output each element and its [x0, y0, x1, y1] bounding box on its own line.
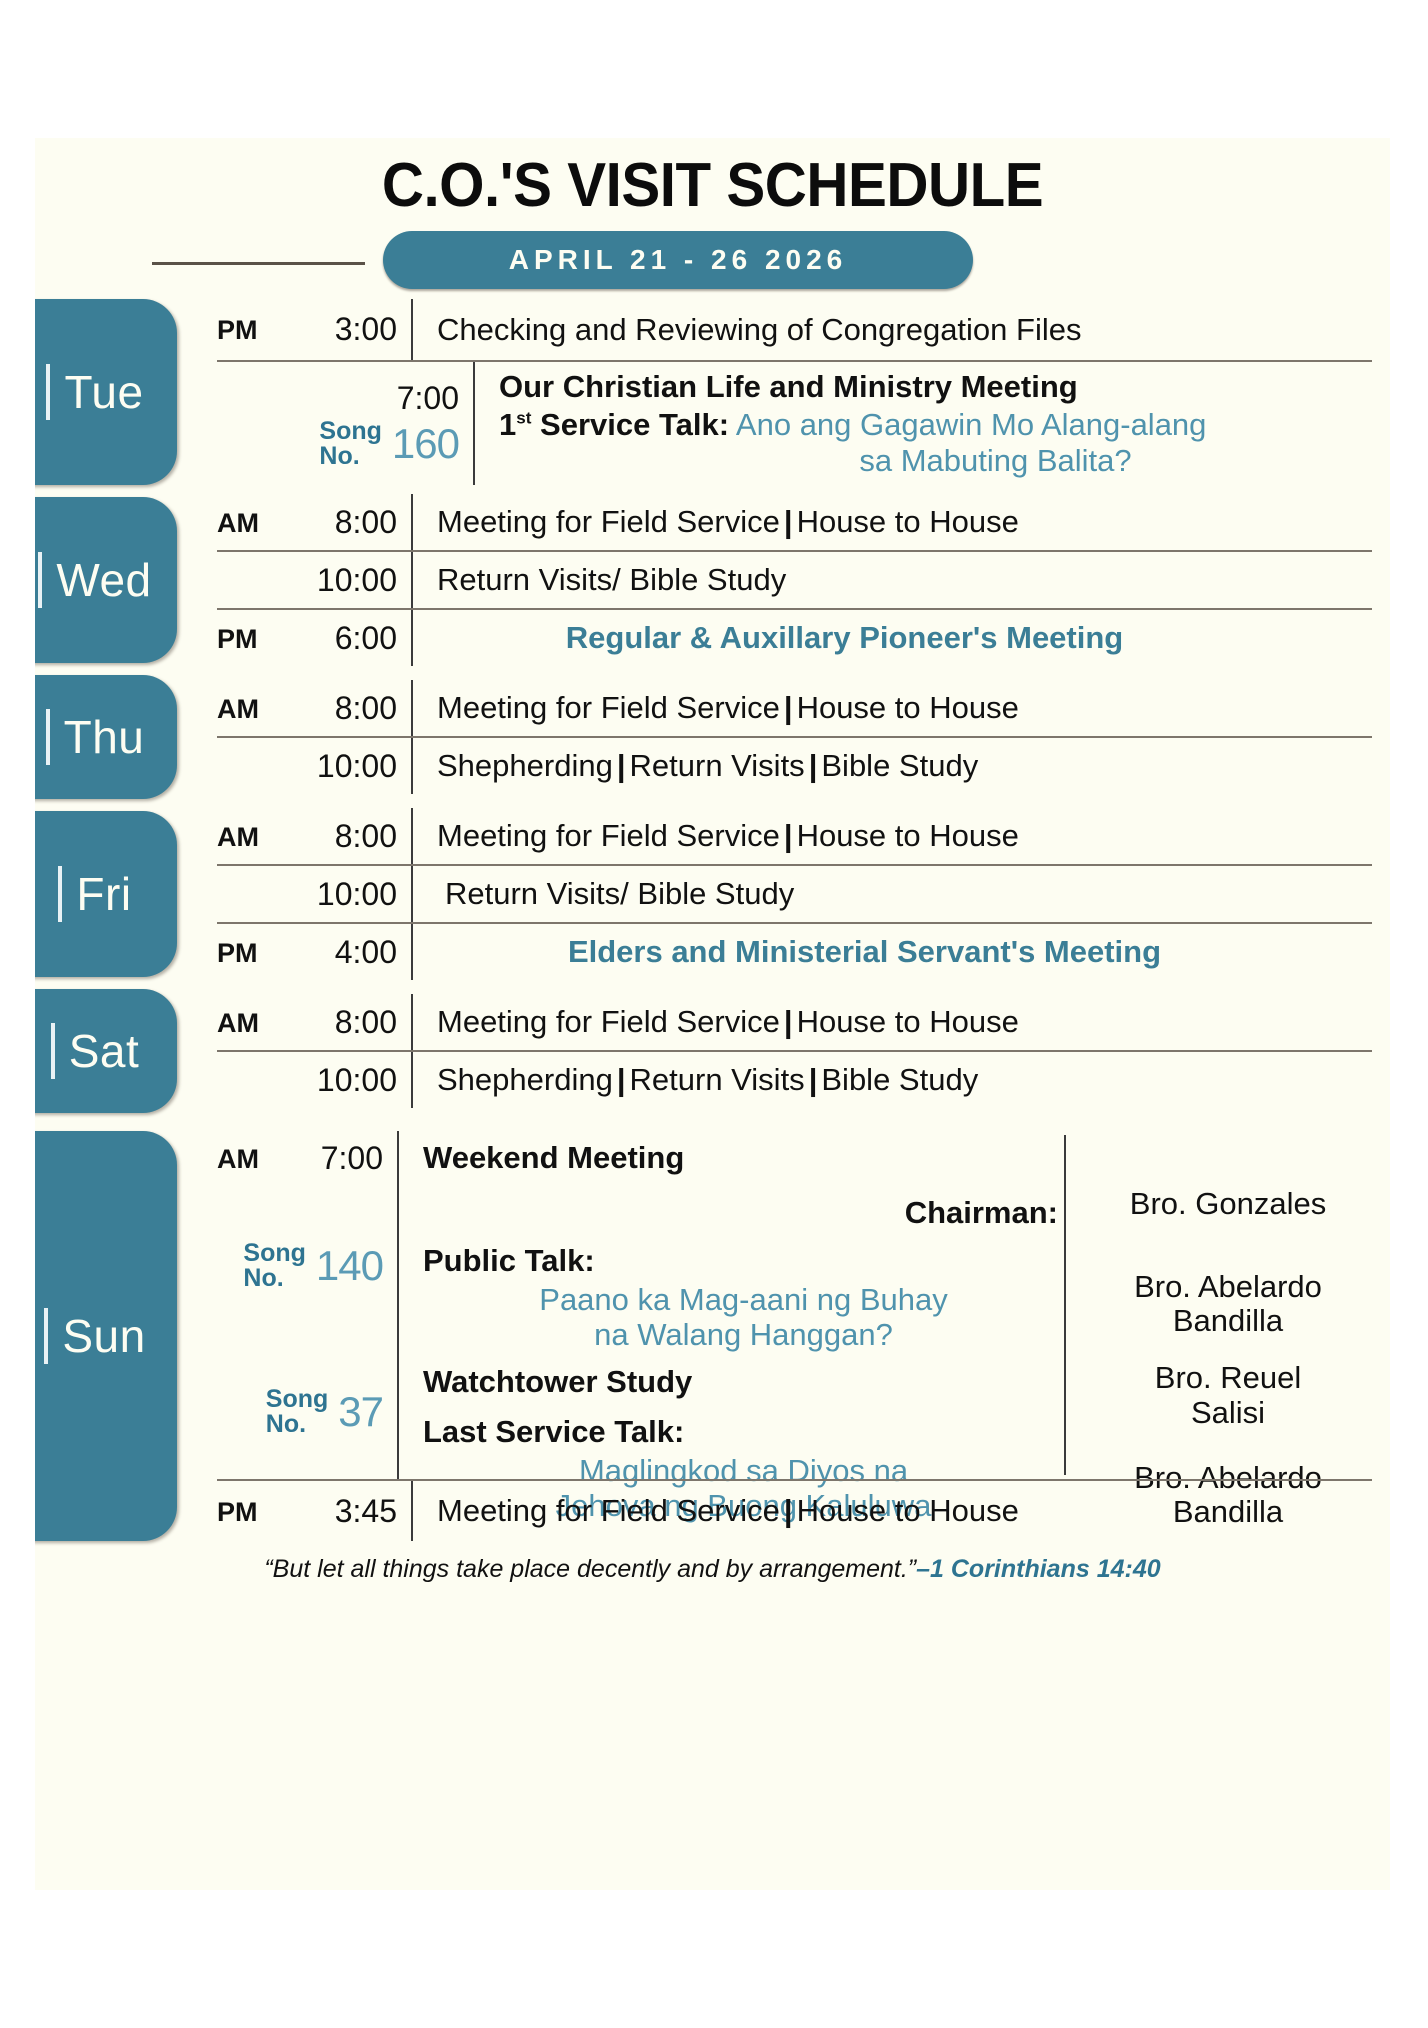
day-label-sun: Sun — [62, 1309, 161, 1363]
chairman-name: Bro. Gonzales — [1084, 1187, 1372, 1222]
schedule-row: 10:00 Shepherding | Return Visits | Bibl… — [217, 1050, 1372, 1108]
time-label: 8:00 — [279, 994, 411, 1050]
separator-pipe: | — [780, 504, 797, 540]
ampm-label — [217, 552, 279, 608]
tab-tick-icon — [46, 709, 50, 765]
activity-part-a: Meeting for Field Service — [437, 818, 780, 854]
talk-title-line2: sa Mabuting Balita? — [499, 443, 1372, 479]
conductor-line2: Salisi — [1084, 1396, 1372, 1431]
weekend-program-column: Weekend Meeting Chairman: Public Talk: P… — [399, 1131, 1064, 1479]
time-label: 7:00 — [397, 379, 459, 419]
day-rows-sat: AM 8:00 Meeting for Field Service | Hous… — [177, 989, 1390, 1113]
song-no-label: SongNo. — [266, 1387, 329, 1437]
activity-text: Meeting for Field Service | House to Hou… — [413, 680, 1372, 736]
header-divider-rule — [152, 262, 365, 265]
watchtower-study-label: Watchtower Study — [423, 1364, 1064, 1400]
schedule-row-weekend: AM 7:00 SongNo. 140 SongNo. 37 — [217, 1131, 1372, 1479]
weekend-meeting-body: Weekend Meeting Chairman: Public Talk: P… — [399, 1131, 1372, 1479]
footer-scripture: “But let all things take place decently … — [35, 1555, 1390, 1584]
activity-text: Meeting for Field Service | House to Hou… — [413, 1481, 1372, 1541]
ampm-label — [217, 362, 279, 485]
schedule-card: C.O.'S VISIT SCHEDULE APRIL 21 - 26 2026… — [35, 138, 1390, 1890]
time-label: 10:00 — [279, 1052, 411, 1108]
day-tab-wed: Wed — [35, 497, 177, 663]
ampm-label — [217, 1052, 279, 1108]
ampm-label: PM — [217, 610, 279, 666]
day-block-fri: Fri AM 8:00 Meeting for Field Service | … — [35, 811, 1390, 977]
day-label-thu: Thu — [64, 710, 161, 764]
activity-part-c: Bible Study — [821, 1062, 978, 1098]
day-block-sun: Sun AM 7:00 SongNo. 140 — [35, 1131, 1390, 1541]
ampm-label — [217, 866, 279, 922]
time-label: 8:00 — [279, 808, 411, 864]
ampm-label: AM — [217, 1142, 279, 1175]
service-talk-label: Service Talk: — [540, 407, 729, 442]
activity-text: Regular & Auxillary Pioneer's Meeting — [413, 610, 1372, 666]
header-band: APRIL 21 - 26 2026 — [35, 225, 1390, 299]
ampm-label: AM — [217, 680, 279, 736]
ampm-label: AM — [217, 994, 279, 1050]
activity-text: Return Visits/ Bible Study — [413, 866, 1372, 922]
separator-pipe: | — [613, 748, 630, 784]
activity-block: Our Christian Life and Ministry Meeting … — [475, 362, 1372, 485]
activity-part-a: Meeting for Field Service — [437, 1493, 780, 1529]
song-no-label: SongNo. — [319, 419, 382, 469]
speaker-line2: Bandilla — [1084, 1304, 1372, 1339]
time-label: 7:00 — [279, 1140, 397, 1177]
first-service-talk-line: 1st Service Talk: Ano ang Gagawin Mo Ala… — [499, 407, 1372, 443]
ordinal-number: 1 — [499, 407, 516, 442]
ampm-label — [217, 738, 279, 794]
day-tab-sat: Sat — [35, 989, 177, 1113]
talk-title-line1: Ano ang Gagawin Mo Alang-alang — [736, 407, 1207, 442]
song-number-public-talk: 140 — [316, 1242, 383, 1290]
activity-part-a: Shepherding — [437, 1062, 613, 1098]
tab-tick-icon — [44, 1308, 48, 1364]
song-no-label: SongNo. — [243, 1241, 306, 1291]
activity-part-b: House to House — [797, 818, 1019, 854]
schedule-row: PM 3:00 Checking and Reviewing of Congre… — [217, 299, 1372, 360]
activity-part-b: House to House — [797, 690, 1019, 726]
time-label: 8:00 — [279, 680, 411, 736]
schedule-row: PM 4:00 Elders and Ministerial Servant's… — [217, 922, 1372, 980]
activity-part-a: Shepherding — [437, 748, 613, 784]
activity-text: Shepherding | Return Visits | Bible Stud… — [413, 738, 1372, 794]
activity-part-b: House to House — [797, 1493, 1019, 1529]
activity-part-b: House to House — [797, 504, 1019, 540]
time-label: 4:00 — [279, 924, 411, 980]
day-tab-tue: Tue — [35, 299, 177, 485]
activity-text: Meeting for Field Service | House to Hou… — [413, 808, 1372, 864]
time-label: 10:00 — [279, 738, 411, 794]
scripture-quote: “But let all things take place decently … — [264, 1555, 916, 1583]
day-rows-sun: AM 7:00 SongNo. 140 SongNo. 37 — [177, 1131, 1390, 1541]
song-number: 160 — [392, 420, 459, 468]
activity-text: Return Visits/ Bible Study — [413, 552, 1372, 608]
activity-part-a: Meeting for Field Service — [437, 504, 780, 540]
ampm-label: AM — [217, 808, 279, 864]
tab-tick-icon — [46, 364, 50, 420]
chairman-label: Chairman: — [423, 1185, 1064, 1241]
activity-part-b: House to House — [797, 1004, 1019, 1040]
separator-pipe: | — [805, 1062, 822, 1098]
separator-pipe: | — [613, 1062, 630, 1098]
schedule-row: AM 8:00 Meeting for Field Service | Hous… — [217, 808, 1372, 864]
schedule-row: 7:00 SongNo. 160 Our Christian Life and … — [217, 360, 1372, 485]
activity-text: Checking and Reviewing of Congregation F… — [413, 299, 1372, 360]
schedule-row: AM 8:00 Meeting for Field Service | Hous… — [217, 494, 1372, 550]
activity-part-a: Meeting for Field Service — [437, 690, 780, 726]
ampm-label: PM — [217, 1481, 279, 1541]
separator-pipe: | — [780, 690, 797, 726]
day-block-sat: Sat AM 8:00 Meeting for Field Service | … — [35, 989, 1390, 1113]
clm-meeting-title: Our Christian Life and Ministry Meeting — [499, 369, 1372, 405]
time-label: 10:00 — [279, 866, 411, 922]
day-tab-thu: Thu — [35, 675, 177, 799]
conductor-line1: Bro. Reuel — [1084, 1361, 1372, 1396]
activity-part-c: Bible Study — [821, 748, 978, 784]
separator-pipe: | — [780, 818, 797, 854]
last-service-talk-label: Last Service Talk: — [423, 1414, 1064, 1450]
tab-tick-icon — [38, 552, 42, 608]
tab-tick-icon — [58, 866, 62, 922]
schedule-row: AM 8:00 Meeting for Field Service | Hous… — [217, 680, 1372, 736]
ordinal-suffix: st — [516, 408, 531, 427]
assignee-column: Bro. Gonzales Bro. Abelardo Bandilla Bro… — [1066, 1131, 1372, 1479]
activity-part-a: Meeting for Field Service — [437, 1004, 780, 1040]
schedule-row: 10:00 Return Visits/ Bible Study — [217, 550, 1372, 608]
schedule-row: PM 6:00 Regular & Auxillary Pioneer's Me… — [217, 608, 1372, 666]
activity-text: Meeting for Field Service | House to Hou… — [413, 994, 1372, 1050]
activity-text: Meeting for Field Service | House to Hou… — [413, 494, 1372, 550]
time-label: 10:00 — [279, 552, 411, 608]
page-title: C.O.'S VISIT SCHEDULE — [76, 138, 1350, 221]
separator-pipe: | — [805, 748, 822, 784]
ampm-label: PM — [217, 924, 279, 980]
day-tab-sun: Sun — [35, 1131, 177, 1541]
day-label-tue: Tue — [64, 365, 159, 419]
ampm-label: PM — [217, 299, 279, 360]
ampm-label: AM — [217, 494, 279, 550]
day-label-fri: Fri — [76, 867, 147, 921]
time-label: 6:00 — [279, 610, 411, 666]
tab-tick-icon — [51, 1023, 55, 1079]
day-block-wed: Wed AM 8:00 Meeting for Field Service | … — [35, 497, 1390, 663]
time-label: 3:00 — [279, 299, 411, 360]
day-block-thu: Thu AM 8:00 Meeting for Field Service | … — [35, 675, 1390, 799]
song-number-last-talk: 37 — [338, 1388, 383, 1436]
watchtower-conductor: Bro. Reuel Salisi — [1084, 1361, 1372, 1430]
date-range-badge: APRIL 21 - 26 2026 — [383, 231, 973, 289]
song-number-cell: 7:00 SongNo. 160 — [279, 362, 473, 485]
day-rows-wed: AM 8:00 Meeting for Field Service | Hous… — [177, 497, 1390, 663]
day-tab-fri: Fri — [35, 811, 177, 977]
time-label: 8:00 — [279, 494, 411, 550]
activity-part-b: Return Visits — [630, 1062, 805, 1098]
activity-text: Elders and Ministerial Servant's Meeting — [413, 924, 1372, 980]
day-rows-thu: AM 8:00 Meeting for Field Service | Hous… — [177, 675, 1390, 799]
public-talk-label: Public Talk: — [423, 1243, 1064, 1279]
separator-pipe: | — [780, 1004, 797, 1040]
separator-pipe: | — [780, 1493, 797, 1529]
public-talk-title-line2: na Walang Hanggan? — [423, 1318, 1064, 1353]
activity-part-b: Return Visits — [630, 748, 805, 784]
activity-text: Shepherding | Return Visits | Bible Stud… — [413, 1052, 1372, 1108]
day-rows-fri: AM 8:00 Meeting for Field Service | Hous… — [177, 811, 1390, 977]
scripture-reference: –1 Corinthians 14:40 — [916, 1555, 1161, 1583]
schedule-row: 10:00 Shepherding | Return Visits | Bibl… — [217, 736, 1372, 794]
schedule-row: PM 3:45 Meeting for Field Service | Hous… — [217, 1479, 1372, 1541]
weekend-meeting-heading: Weekend Meeting — [423, 1131, 1064, 1185]
day-rows-tue: PM 3:00 Checking and Reviewing of Congre… — [177, 299, 1390, 485]
speaker-line1: Bro. Abelardo — [1084, 1270, 1372, 1305]
schedule-row: AM 8:00 Meeting for Field Service | Hous… — [217, 994, 1372, 1050]
time-label: 3:45 — [279, 1481, 411, 1541]
public-talk-speaker: Bro. Abelardo Bandilla — [1084, 1270, 1372, 1339]
day-block-tue: Tue PM 3:00 Checking and Reviewing of Co… — [35, 299, 1390, 485]
day-label-wed: Wed — [56, 553, 167, 607]
public-talk-title-line1: Paano ka Mag-aani ng Buhay — [423, 1283, 1064, 1318]
schedule-row: 10:00 Return Visits/ Bible Study — [217, 864, 1372, 922]
day-label-sat: Sat — [69, 1024, 156, 1078]
